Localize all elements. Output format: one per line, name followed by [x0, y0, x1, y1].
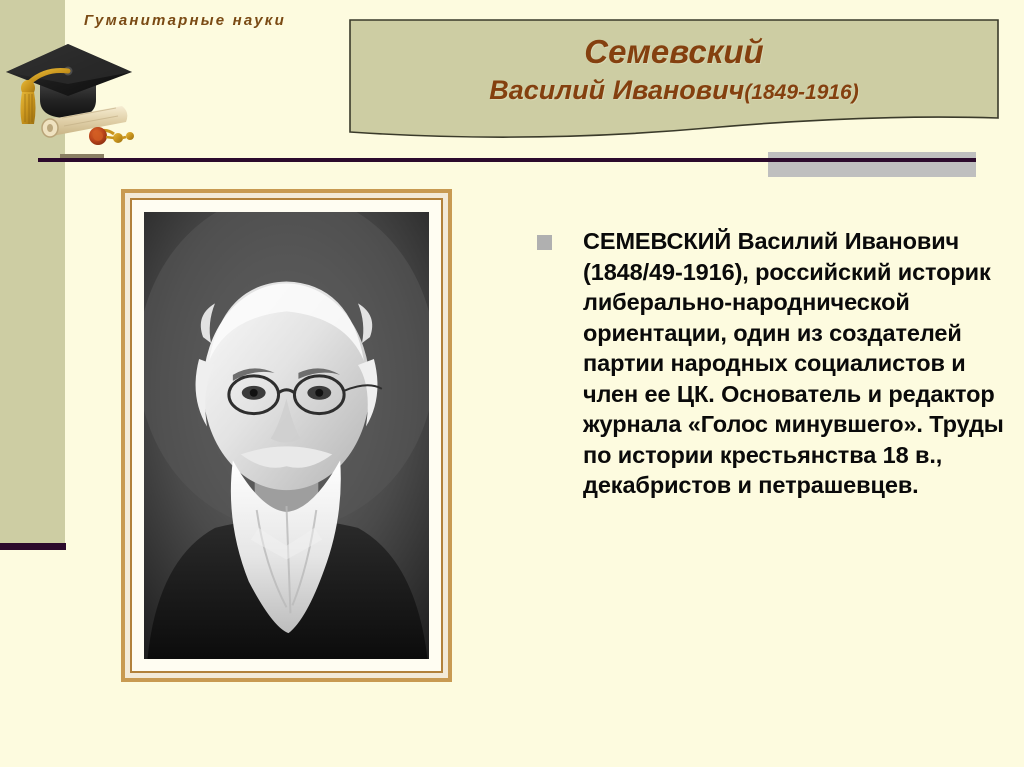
content-paragraph: СЕМЕВСКИЙ Василий Иванович (1848/49-1916…	[583, 226, 1013, 501]
title-banner: Семевский Василий Иванович(1849-1916)	[348, 18, 1000, 138]
portrait-illustration	[144, 212, 429, 659]
title-given-names: Василий Иванович	[489, 75, 744, 105]
header-divider-line	[38, 158, 976, 162]
graduation-cap-diploma-icon	[2, 38, 138, 150]
left-accent-band-rule	[0, 543, 66, 550]
header-gray-block	[768, 152, 976, 177]
title-given-line: Василий Иванович(1849-1916)	[348, 72, 1000, 111]
slide-canvas: Гуманитарные науки	[0, 0, 1024, 767]
square-bullet-icon	[537, 235, 552, 250]
portrait-photo	[144, 212, 429, 659]
content-block: СЕМЕВСКИЙ Василий Иванович (1848/49-1916…	[533, 226, 1013, 501]
title-surname: Семевский	[348, 32, 1000, 72]
section-label: Гуманитарные науки	[60, 10, 310, 31]
portrait-frame	[121, 189, 452, 682]
title-years: (1849-1916)	[744, 81, 858, 104]
portrait-frame-inner	[130, 198, 443, 673]
